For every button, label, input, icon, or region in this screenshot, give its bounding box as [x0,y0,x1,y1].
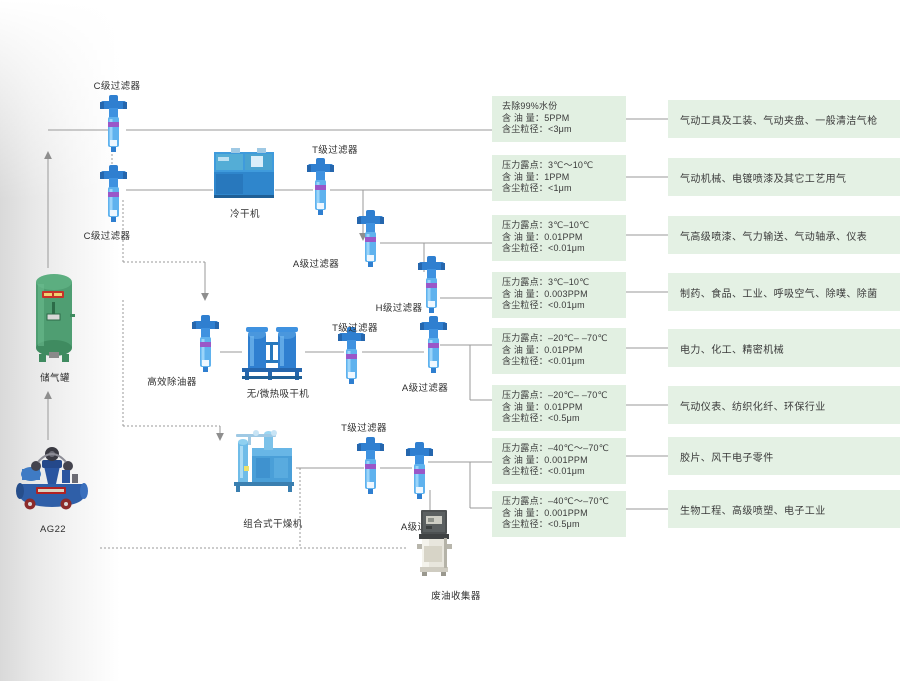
spec-line: 压力露点：–20℃– –70℃ [502,390,618,402]
label-waste-oil-collector: 废油收集器 [420,588,492,602]
spec-line: 压力露点：–20℃– –70℃ [502,333,618,345]
spec-box: 压力露点：–20℃– –70℃ 含 油 量：0.01PPM 含尘粒径：<0.5μ… [492,385,626,431]
label-t-filter-3: T级过滤器 [329,420,399,434]
device-refrigerated-dryer [213,148,275,200]
application-text: 气动工具及工装、气动夹盘、一般清洁气枪 [680,112,878,127]
application-box: 气动仪表、纺织化纤、环保行业 [668,386,900,424]
spec-line: 含 油 量：0.01PPM [502,345,618,357]
spec-line: 压力露点：–40℃～–70℃ [502,496,618,508]
device-a-filter-3 [406,442,433,500]
application-text: 电力、化工、精密机械 [680,341,784,356]
spec-line: 含 油 量：0.003PPM [502,289,618,301]
spec-box: 压力露点：3℃–10℃ 含 油 量：0.003PPM 含尘粒径：<0.01μm [492,272,626,318]
spec-line: 压力露点：3℃–10℃ [502,277,618,289]
device-t-filter-3 [357,437,384,495]
device-air-tank [30,268,78,366]
spec-line: 含尘粒径：<3μm [502,124,618,136]
label-adsorption-dryer: 无/微热吸干机 [236,386,320,400]
label-oil-remover: 高效除油器 [133,374,211,388]
label-t-filter-1: T级过滤器 [300,142,370,156]
label-h-filter: H级过滤器 [364,300,434,314]
label-c-filter-lower: C级过滤器 [72,228,142,242]
application-box: 气高级喷漆、气力输送、气动轴承、仪表 [668,216,900,254]
application-box: 气动机械、电镀喷漆及其它工艺用气 [668,158,900,196]
device-combined-dryer [230,424,298,494]
spec-box: 去除99%水份 含 油 量：5PPM 含尘粒径：<3μm [492,96,626,142]
spec-line: 含尘粒径：<0.01μm [502,356,618,368]
spec-box: 压力露点：–40℃～–70℃ 含 油 量：0.001PPM 含尘粒径：<0.01… [492,438,626,484]
label-compressor: AG22 [18,524,88,535]
label-air-tank: 储气罐 [28,370,82,384]
spec-box: 压力露点：–20℃– –70℃ 含 油 量：0.01PPM 含尘粒径：<0.01… [492,328,626,374]
label-combined-dryer: 组合式干燥机 [231,516,315,530]
spec-line: 含 油 量：5PPM [502,113,618,125]
spec-line: 含尘粒径：<0.01μm [502,243,618,255]
device-c-filter-top [100,95,127,153]
application-text: 制药、食品、工业、呼吸空气、除噗、除菌 [680,285,878,300]
device-a-filter-1 [357,210,384,268]
air-treatment-flow-diagram: AG22 储气罐 [0,0,900,681]
label-t-filter-2: T级过滤器 [320,320,390,334]
label-refrigerated-dryer: 冷干机 [222,206,268,220]
spec-line: 含 油 量：0.001PPM [502,455,618,467]
device-adsorption-dryer [238,322,306,380]
application-box: 制药、食品、工业、呼吸空气、除噗、除菌 [668,273,900,311]
label-a-filter-1: A级过滤器 [281,256,351,270]
spec-line: 含 油 量：0.001PPM [502,508,618,520]
application-box: 胶片、风干电子零件 [668,437,900,475]
application-text: 气高级喷漆、气力输送、气动轴承、仪表 [680,228,867,243]
application-text: 气动机械、电镀喷漆及其它工艺用气 [680,170,846,185]
application-text: 气动仪表、纺织化纤、环保行业 [680,398,826,413]
device-a-filter-2 [420,316,447,374]
spec-line: 含尘粒径：<0.01μm [502,466,618,478]
label-c-filter-top: C级过滤器 [82,78,152,92]
spec-line: 含 油 量：1PPM [502,172,618,184]
spec-line: 压力露点：3℃–10℃ [502,220,618,232]
application-text: 生物工程、高级喷塑、电子工业 [680,502,826,517]
spec-box: 压力露点：3℃–10℃ 含 油 量：0.01PPM 含尘粒径：<0.01μm [492,215,626,261]
spec-line: 含 油 量：0.01PPM [502,232,618,244]
device-oil-remover [192,315,219,373]
device-c-filter-lower [100,165,127,223]
spec-line: 压力露点：–40℃～–70℃ [502,443,618,455]
label-a-filter-2: A级过滤器 [390,380,460,394]
spec-line: 含 油 量：0.01PPM [502,402,618,414]
application-box: 气动工具及工装、气动夹盘、一般清洁气枪 [668,100,900,138]
device-compressor [14,440,90,510]
spec-line: 压力露点：3℃～10℃ [502,160,618,172]
device-waste-oil-collector [413,508,457,580]
spec-line: 去除99%水份 [502,101,618,113]
spec-box: 压力露点：–40℃～–70℃ 含 油 量：0.001PPM 含尘粒径：<0.5μ… [492,491,626,537]
device-t-filter-2 [338,327,365,385]
spec-line: 含尘粒径：<0.01μm [502,300,618,312]
spec-box: 压力露点：3℃～10℃ 含 油 量：1PPM 含尘粒径：<1μm [492,155,626,201]
spec-line: 含尘粒径：<0.5μm [502,413,618,425]
application-box: 电力、化工、精密机械 [668,329,900,367]
application-text: 胶片、风干电子零件 [680,449,774,464]
device-t-filter-1 [307,158,334,216]
spec-line: 含尘粒径：<0.5μm [502,519,618,531]
spec-line: 含尘粒径：<1μm [502,183,618,195]
application-box: 生物工程、高级喷塑、电子工业 [668,490,900,528]
